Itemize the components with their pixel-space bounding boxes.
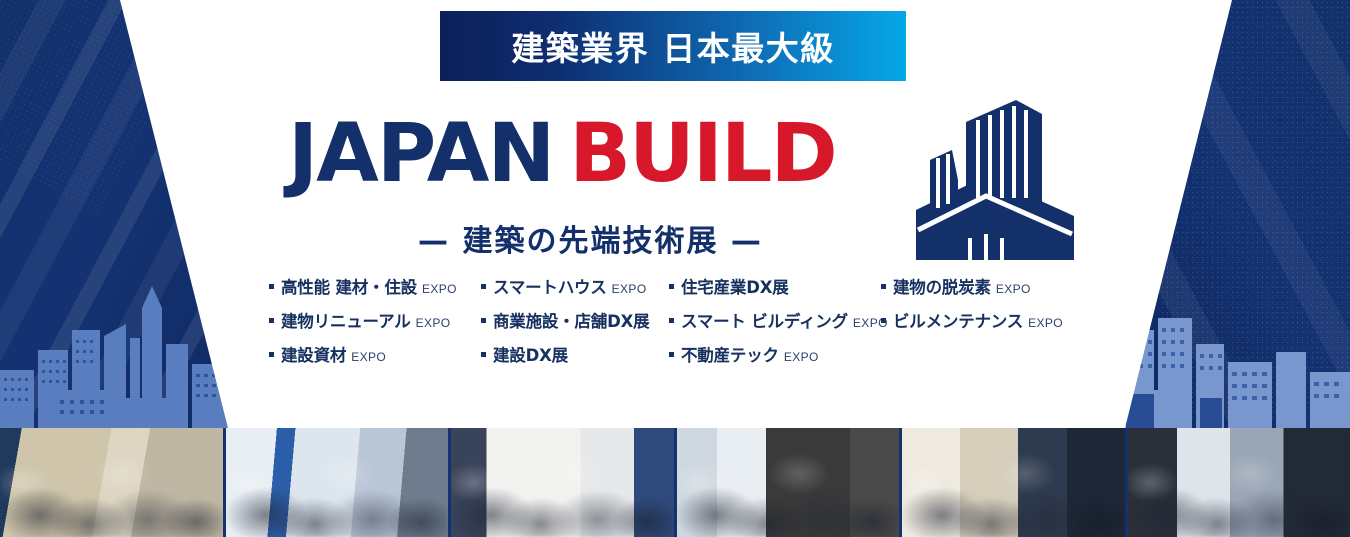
expo-item-suffix: EXPO xyxy=(784,350,819,364)
expo-column-3: 住宅産業DX展 スマート ビルディング EXPO 不動産テック EXPO xyxy=(669,274,881,376)
wordmark-build: BUILD xyxy=(569,107,836,201)
photo-booth-attendees xyxy=(0,428,226,537)
photo-texture xyxy=(0,428,223,537)
expo-item-label: ビルメンテナンス xyxy=(893,308,1023,332)
expo-item-label: 商業施設・店舗DX展 xyxy=(493,308,649,332)
expo-item-label: 建物の脱炭素 xyxy=(893,274,991,298)
bullet-icon xyxy=(269,352,274,357)
expo-item-suffix: EXPO xyxy=(996,282,1031,296)
photo-caption: KAGA SETSUBI xyxy=(529,496,595,506)
expo-item-label: 建設DX展 xyxy=(493,342,568,366)
photo-product-showcase-wall xyxy=(1128,428,1350,537)
expo-item[interactable]: 不動産テック EXPO xyxy=(669,342,881,376)
expo-item[interactable]: スマートハウス EXPO xyxy=(481,274,669,308)
expo-item[interactable]: 住宅産業DX展 xyxy=(669,274,881,308)
photo-booth-visitors-display xyxy=(902,428,1128,537)
expo-item-suffix: EXPO xyxy=(612,282,647,296)
expo-item-label: 高性能 建材・住設 xyxy=(281,274,417,298)
expo-item-suffix: EXPO xyxy=(422,282,457,296)
bullet-icon xyxy=(881,318,886,323)
photo-texture xyxy=(226,428,449,537)
bullet-icon xyxy=(269,318,274,323)
photo-texture xyxy=(1128,428,1350,537)
photo-strip: KAGA SETSUBI xyxy=(0,428,1350,537)
photo-texture xyxy=(902,428,1125,537)
photo-texture xyxy=(451,428,674,537)
bullet-icon xyxy=(481,352,486,357)
expo-item-label: 不動産テック xyxy=(681,342,779,366)
expo-column-4: 建物の脱炭素 EXPO ビルメンテナンス EXPO xyxy=(881,274,1081,376)
bullet-icon xyxy=(669,284,674,289)
japan-build-hero-banner: 建築業界 日本最大級 JAPANBUILD — 建築の先端技術展 — xyxy=(0,0,1350,537)
photo-exhibition-aisle-crowd xyxy=(226,428,452,537)
photo-meeting-table xyxy=(677,428,903,537)
bullet-icon xyxy=(669,352,674,357)
expo-column-1: 高性能 建材・住設 EXPO 建物リニューアル EXPO 建設資材 EXPO xyxy=(269,274,481,376)
photo-texture xyxy=(677,428,900,537)
photo-kaga-setsubi-booth: KAGA SETSUBI xyxy=(451,428,677,537)
headline-ribbon: 建築業界 日本最大級 xyxy=(440,11,906,81)
expo-item[interactable]: 建物リニューアル EXPO xyxy=(269,308,481,342)
expo-item[interactable]: 建設資材 EXPO xyxy=(269,342,481,376)
tagline: — 建築の先端技術展 — xyxy=(418,216,763,260)
expo-item[interactable]: 建設DX展 xyxy=(481,342,669,376)
bullet-icon xyxy=(881,284,886,289)
hero-section: 建築業界 日本最大級 JAPANBUILD — 建築の先端技術展 — xyxy=(0,0,1350,428)
expo-item-suffix: EXPO xyxy=(351,350,386,364)
expo-item-label: 住宅産業DX展 xyxy=(681,274,789,298)
wordmark-japan: JAPAN xyxy=(288,107,553,201)
skyscraper-icon xyxy=(908,88,1078,263)
expo-item[interactable]: スマート ビルディング EXPO xyxy=(669,308,881,342)
expo-list-group: 高性能 建材・住設 EXPO 建物リニューアル EXPO 建設資材 EXPO xyxy=(0,274,1350,376)
wordmark: JAPANBUILD xyxy=(288,114,836,195)
bullet-icon xyxy=(269,284,274,289)
expo-item[interactable]: 商業施設・店舗DX展 xyxy=(481,308,669,342)
expo-item[interactable]: ビルメンテナンス EXPO xyxy=(881,308,1081,342)
logo-lockup: JAPANBUILD — 建築の先端技術展 — xyxy=(0,96,1350,266)
headline-ribbon-text: 建築業界 日本最大級 xyxy=(511,22,835,70)
bullet-icon xyxy=(481,318,486,323)
expo-item-label: スマート ビルディング xyxy=(681,308,848,332)
expo-item-label: スマートハウス xyxy=(493,274,607,298)
bullet-icon xyxy=(481,284,486,289)
bullet-icon xyxy=(669,318,674,323)
expo-item[interactable]: 建物の脱炭素 EXPO xyxy=(881,274,1081,308)
expo-item-label: 建物リニューアル xyxy=(281,308,411,332)
expo-item-suffix: EXPO xyxy=(416,316,451,330)
expo-column-2: スマートハウス EXPO 商業施設・店舗DX展 建設DX展 xyxy=(481,274,669,376)
expo-item-suffix: EXPO xyxy=(1028,316,1063,330)
expo-item-label: 建設資材 xyxy=(281,342,346,366)
expo-item[interactable]: 高性能 建材・住設 EXPO xyxy=(269,274,481,308)
